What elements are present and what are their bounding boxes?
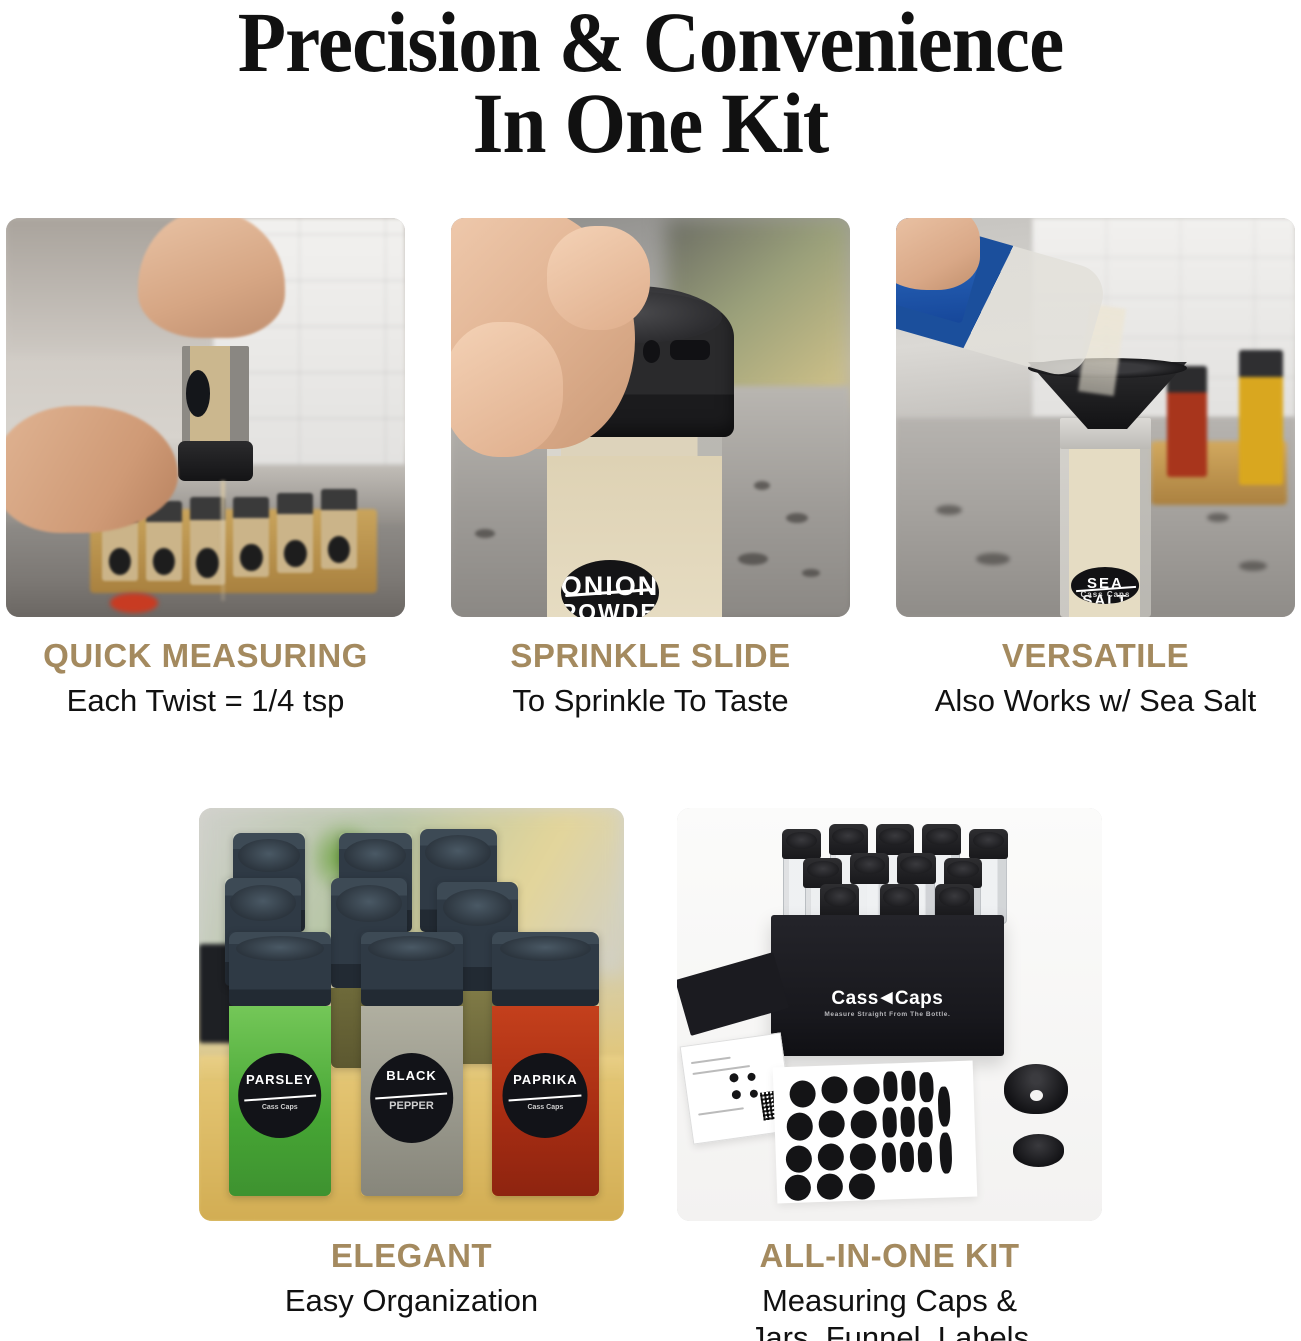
jar-label-brand: Cass Caps [238, 1104, 322, 1111]
brand-logo: Cass◀Caps [771, 988, 1005, 1010]
caption-quick-measuring: QUICK MEASURING Each Twist = 1/4 tsp [6, 639, 405, 719]
feature-title: VERSATILE [896, 639, 1295, 674]
photo-elegant: PARSLEY Cass Caps BLACK PEPPER [199, 808, 624, 1221]
feature-subtitle: Measuring Caps & Jars, Funnel, Labels [677, 1282, 1102, 1341]
feature-card-versatile: SEA SALT Cass Caps VERSATILE Also Works … [896, 218, 1295, 719]
label-sheet [772, 1061, 976, 1204]
feature-subtitle: To Sprinkle To Taste [451, 682, 850, 720]
feature-card-quick-measuring: QUICK MEASURING Each Twist = 1/4 tsp [6, 218, 405, 719]
jar-label-parsley: PARSLEY Cass Caps [238, 1053, 322, 1138]
feature-subtitle: Easy Organization [199, 1282, 624, 1320]
feature-row-top: QUICK MEASURING Each Twist = 1/4 tsp [6, 218, 1295, 719]
triangle-icon: ◀ [881, 988, 893, 1006]
page-title: Precision & Convenience In One Kit [0, 2, 1301, 164]
jar-parsley: PARSLEY Cass Caps [229, 932, 331, 1196]
brand-tagline: Measure Straight From The Bottle. [771, 1011, 1005, 1018]
product-box: Cass◀Caps Measure Straight From The Bott… [771, 915, 1005, 1055]
photo-versatile: SEA SALT Cass Caps [896, 218, 1295, 617]
feature-subtitle: Each Twist = 1/4 tsp [6, 682, 405, 720]
photo-quick-measuring [6, 218, 405, 617]
jar-label-name: PAPRIKA [503, 1072, 588, 1087]
jar-paprika: PAPRIKA Cass Caps [492, 932, 598, 1196]
jar-label-brand: Cass Caps [503, 1104, 588, 1111]
jar-label-sea-salt: SEA SALT Cass Caps [1072, 567, 1140, 603]
feature-card-sprinkle-slide: ONION POWDER [451, 218, 850, 719]
feature-title: QUICK MEASURING [6, 639, 405, 674]
jar-label-paprika: PAPRIKA Cass Caps [503, 1053, 588, 1138]
jar-label-name: BLACK [370, 1068, 454, 1083]
feature-row-bottom: PARSLEY Cass Caps BLACK PEPPER [199, 808, 1102, 1341]
jar-label-name: PARSLEY [238, 1072, 322, 1087]
jar-label-onion-powder: ONION POWDER [561, 560, 659, 617]
feature-card-elegant: PARSLEY Cass Caps BLACK PEPPER [199, 808, 624, 1341]
brand-name-right: Caps [895, 988, 943, 1009]
infographic-page: Precision & Convenience In One Kit [0, 0, 1301, 1341]
caption-versatile: VERSATILE Also Works w/ Sea Salt [896, 639, 1295, 719]
feature-title: ELEGANT [199, 1239, 624, 1274]
jar-label-line-2: Cass Caps [1072, 590, 1140, 599]
feature-card-all-in-one-kit: Cass◀Caps Measure Straight From The Bott… [677, 808, 1102, 1341]
photo-all-in-one-kit: Cass◀Caps Measure Straight From The Bott… [677, 808, 1102, 1221]
feature-subtitle: Also Works w/ Sea Salt [896, 682, 1295, 720]
caption-sprinkle-slide: SPRINKLE SLIDE To Sprinkle To Taste [451, 639, 850, 719]
jar-label-line-1: ONION [561, 571, 659, 602]
jar-label-black-pepper: BLACK PEPPER [370, 1053, 454, 1143]
spare-cap [1013, 1134, 1064, 1167]
brand-name-left: Cass [831, 988, 878, 1009]
title-line-1: Precision & Convenience [52, 2, 1249, 83]
title-line-2: In One Kit [52, 83, 1249, 164]
jar-black-pepper: BLACK PEPPER [361, 932, 463, 1196]
jar-label-name-2: PEPPER [370, 1100, 454, 1112]
jar-label-line-2: POWDER [561, 599, 659, 617]
photo-sprinkle-slide: ONION POWDER [451, 218, 850, 617]
feature-title: ALL-IN-ONE KIT [677, 1239, 1102, 1274]
caption-all-in-one-kit: ALL-IN-ONE KIT Measuring Caps & Jars, Fu… [677, 1239, 1102, 1341]
funnel [1004, 1064, 1068, 1114]
feature-title: SPRINKLE SLIDE [451, 639, 850, 674]
caption-elegant: ELEGANT Easy Organization [199, 1239, 624, 1319]
